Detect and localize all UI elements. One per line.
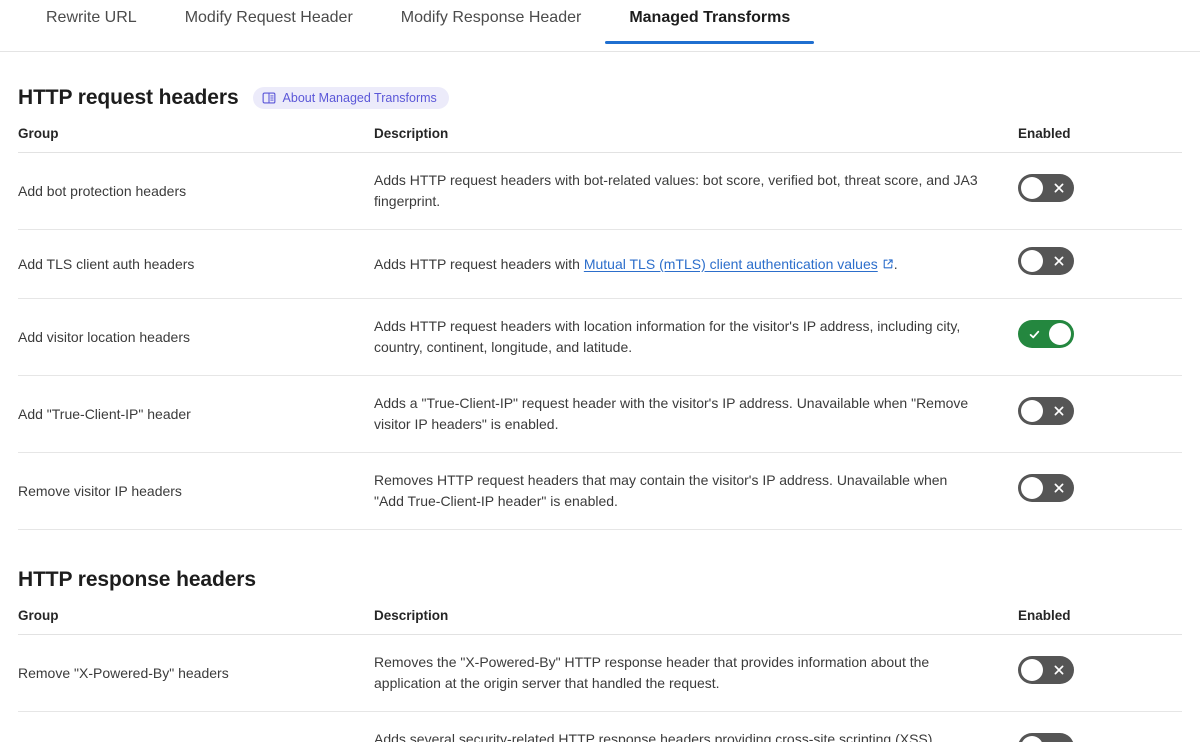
toggle-knob	[1021, 659, 1043, 681]
row-group-label: Add visitor location headers	[18, 299, 374, 376]
enabled-toggle-add-visitor-location-headers[interactable]	[1018, 320, 1074, 348]
response-headers-table: Group Description Enabled Remove "X-Powe…	[18, 604, 1182, 742]
row-enabled-cell	[1018, 712, 1182, 742]
close-icon	[1046, 397, 1072, 425]
table-row: Add "True-Client-IP" header Adds a "True…	[18, 376, 1182, 453]
close-icon	[1046, 174, 1072, 202]
request-headers-table: Group Description Enabled Add bot protec…	[18, 122, 1182, 530]
toggle-knob	[1049, 323, 1071, 345]
column-header-group: Group	[18, 604, 374, 635]
toggle-knob	[1021, 736, 1043, 742]
toggle-knob	[1021, 477, 1043, 499]
external-link-icon[interactable]	[878, 256, 894, 272]
row-enabled-cell	[1018, 635, 1182, 712]
tab-bar: Rewrite URL Modify Request Header Modify…	[0, 0, 1200, 52]
row-description: Adds several security-related HTTP respo…	[374, 712, 1018, 742]
request-section-header: HTTP request headers About Managed Trans…	[18, 86, 1182, 110]
check-icon	[1021, 320, 1047, 348]
column-header-enabled: Enabled	[1018, 122, 1182, 153]
row-enabled-cell	[1018, 376, 1182, 453]
row-enabled-cell	[1018, 453, 1182, 530]
table-row: Remove "X-Powered-By" headers Removes th…	[18, 635, 1182, 712]
tab-managed-transforms[interactable]: Managed Transforms	[605, 0, 814, 44]
table-header-row: Group Description Enabled	[18, 604, 1182, 635]
http-request-headers-section: HTTP request headers About Managed Trans…	[0, 86, 1200, 530]
row-group-label: Remove visitor IP headers	[18, 453, 374, 530]
tab-modify-request-header[interactable]: Modify Request Header	[161, 0, 377, 44]
table-row: Add visitor location headers Adds HTTP r…	[18, 299, 1182, 376]
table-header-row: Group Description Enabled	[18, 122, 1182, 153]
enabled-toggle-add-true-client-ip-header[interactable]	[1018, 397, 1074, 425]
http-response-headers-section: HTTP response headers Group Description …	[0, 568, 1200, 742]
about-badge-label: About Managed Transforms	[283, 91, 437, 105]
toggle-knob	[1021, 400, 1043, 422]
description-prefix: Adds HTTP request headers with	[374, 256, 584, 272]
row-group-label: Remove "X-Powered-By" headers	[18, 635, 374, 712]
table-row: Add security headers Adds several securi…	[18, 712, 1182, 742]
description-suffix: .	[894, 256, 898, 272]
row-description: Adds HTTP request headers with Mutual TL…	[374, 230, 1018, 299]
row-enabled-cell	[1018, 230, 1182, 299]
row-group-label: Add bot protection headers	[18, 153, 374, 230]
close-icon	[1046, 474, 1072, 502]
column-header-description: Description	[374, 604, 1018, 635]
row-description: Removes the "X-Powered-By" HTTP response…	[374, 635, 1018, 712]
row-group-label: Add TLS client auth headers	[18, 230, 374, 299]
table-row: Remove visitor IP headers Removes HTTP r…	[18, 453, 1182, 530]
enabled-toggle-add-bot-protection-headers[interactable]	[1018, 174, 1074, 202]
column-header-description: Description	[374, 122, 1018, 153]
about-managed-transforms-badge[interactable]: About Managed Transforms	[253, 87, 449, 109]
column-header-enabled: Enabled	[1018, 604, 1182, 635]
book-icon	[262, 91, 276, 105]
tab-modify-response-header[interactable]: Modify Response Header	[377, 0, 606, 44]
row-description: Adds a "True-Client-IP" request header w…	[374, 376, 1018, 453]
row-group-label: Add security headers	[18, 712, 374, 742]
enabled-toggle-remove-visitor-ip-headers[interactable]	[1018, 474, 1074, 502]
close-icon	[1046, 656, 1072, 684]
close-icon	[1046, 247, 1072, 275]
enabled-toggle-remove-x-powered-by-headers[interactable]	[1018, 656, 1074, 684]
response-section-title: HTTP response headers	[18, 568, 256, 592]
column-header-group: Group	[18, 122, 374, 153]
table-row: Add bot protection headers Adds HTTP req…	[18, 153, 1182, 230]
enabled-toggle-add-security-headers[interactable]	[1018, 733, 1074, 742]
row-description: Adds HTTP request headers with bot-relat…	[374, 153, 1018, 230]
toggle-knob	[1021, 177, 1043, 199]
response-section-header: HTTP response headers	[18, 568, 1182, 592]
toggle-knob	[1021, 250, 1043, 272]
row-enabled-cell	[1018, 153, 1182, 230]
enabled-toggle-add-tls-client-auth-headers[interactable]	[1018, 247, 1074, 275]
table-row: Add TLS client auth headers Adds HTTP re…	[18, 230, 1182, 299]
row-group-label: Add "True-Client-IP" header	[18, 376, 374, 453]
mtls-documentation-link[interactable]: Mutual TLS (mTLS) client authentication …	[584, 256, 878, 272]
tab-rewrite-url[interactable]: Rewrite URL	[22, 0, 161, 44]
row-description: Removes HTTP request headers that may co…	[374, 453, 1018, 530]
row-enabled-cell	[1018, 299, 1182, 376]
request-section-title: HTTP request headers	[18, 86, 239, 110]
row-description: Adds HTTP request headers with location …	[374, 299, 1018, 376]
close-icon	[1046, 733, 1072, 742]
